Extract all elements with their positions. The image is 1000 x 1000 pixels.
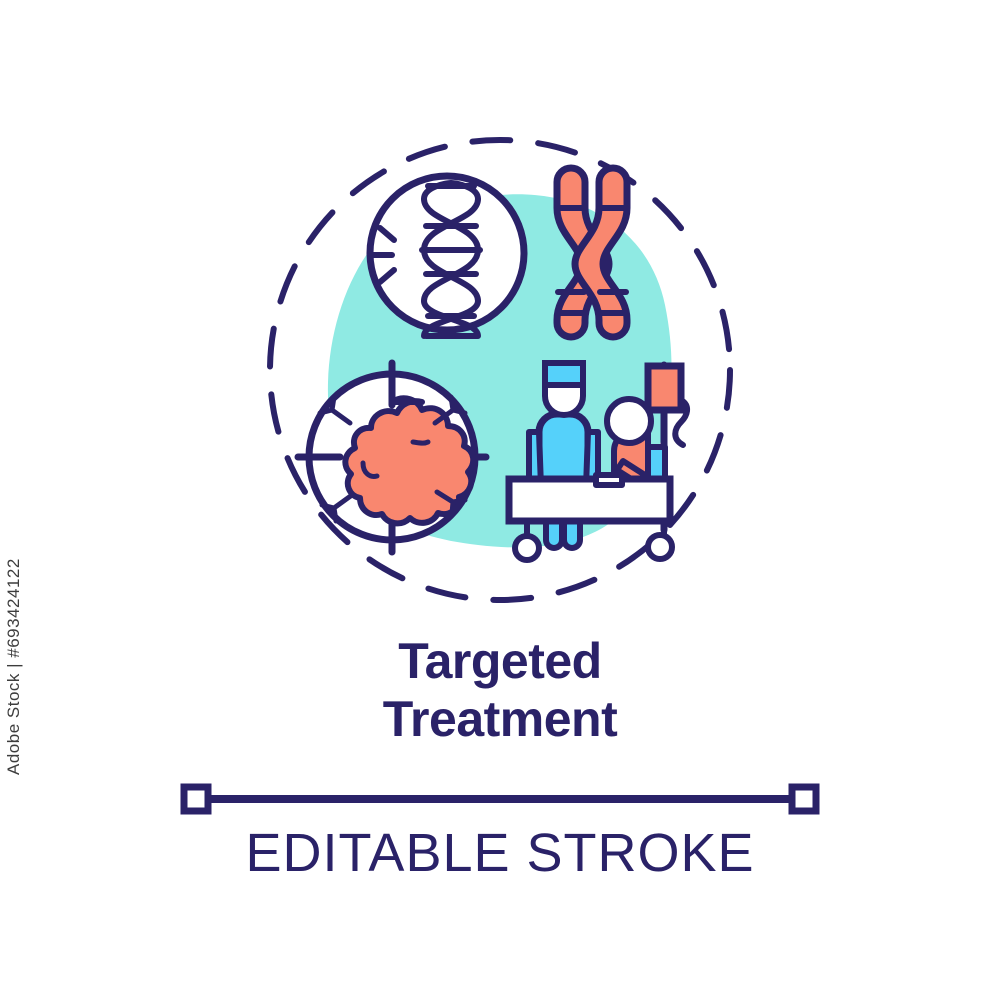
concept-title: Targeted Treatment: [0, 632, 1000, 748]
stroke-handle-left[interactable]: [184, 787, 208, 811]
dna-circle-icon: [370, 176, 524, 336]
title-line-2: Treatment: [0, 690, 1000, 748]
bed-wheel-left: [515, 536, 539, 560]
iv-bag: [648, 366, 681, 410]
editable-stroke-indicator: [0, 770, 1000, 830]
iv-stand-wheel: [648, 535, 672, 559]
bed-mattress: [509, 479, 670, 521]
doctor-cap: [545, 363, 583, 385]
doctor-face: [545, 384, 583, 415]
title-line-1: Targeted: [0, 632, 1000, 690]
editable-stroke-label: EDITABLE STROKE: [0, 822, 1000, 884]
stroke-handle-right[interactable]: [792, 787, 816, 811]
patient-head: [607, 399, 651, 443]
concept-icon-page: Targeted Treatment EDITABLE STROKE Adobe…: [0, 0, 1000, 1000]
stock-watermark: Adobe Stock | #693424122: [4, 525, 34, 775]
patient-pillow-arm-rest: [596, 475, 622, 485]
